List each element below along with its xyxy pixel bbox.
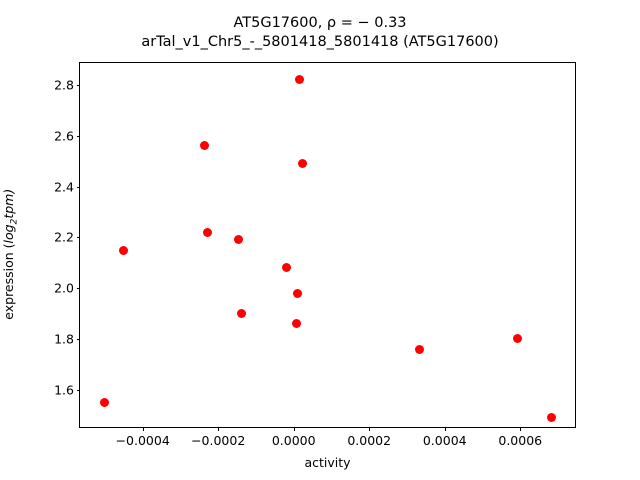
y-axis-label-prefix: expression ( <box>1 243 16 319</box>
y-axis-label-sub: 2 <box>9 219 19 225</box>
data-point <box>292 319 301 328</box>
x-axis-tick <box>294 427 295 431</box>
plot-axes: −0.0004−0.00020.00000.00020.00040.00061.… <box>79 62 576 428</box>
y-axis-tick <box>77 237 81 238</box>
chart-title-line1: AT5G17600, ρ = − 0.33 <box>0 14 640 33</box>
y-axis-tick-label: 2.6 <box>54 128 74 143</box>
y-axis-tick <box>77 288 81 289</box>
y-axis-tick-label: 2.0 <box>54 281 74 296</box>
x-axis-tick <box>445 427 446 431</box>
data-point <box>119 246 128 255</box>
chart-title: AT5G17600, ρ = − 0.33 arTal_v1_Chr5_-_58… <box>0 14 640 52</box>
x-axis-tick <box>369 427 370 431</box>
y-axis-tick-label: 2.8 <box>54 77 74 92</box>
x-axis-tick <box>218 427 219 431</box>
y-axis-tick-label: 1.6 <box>54 382 74 397</box>
y-axis-label-suffix: tpm) <box>1 189 16 219</box>
x-axis-tick-label: 0.0000 <box>272 433 316 448</box>
x-axis-tick-label: −0.0004 <box>116 433 170 448</box>
y-axis-label-base: log <box>1 224 16 243</box>
y-axis-tick-label: 2.2 <box>54 230 74 245</box>
x-axis-label: activity <box>79 455 576 470</box>
y-axis-tick-label: 2.4 <box>54 179 74 194</box>
y-axis-label: expression (log2tpm) <box>1 154 20 354</box>
data-point <box>295 75 304 84</box>
data-point <box>200 141 209 150</box>
data-point <box>547 413 556 422</box>
chart-title-line2: arTal_v1_Chr5_-_5801418_5801418 (AT5G176… <box>0 33 640 52</box>
x-axis-tick-label: 0.0004 <box>423 433 467 448</box>
x-axis-tick-label: 0.0006 <box>498 433 542 448</box>
data-point <box>234 235 243 244</box>
data-point <box>298 159 307 168</box>
y-axis-tick <box>77 339 81 340</box>
data-point <box>513 334 522 343</box>
data-point <box>237 309 246 318</box>
scatter-plot-figure: AT5G17600, ρ = − 0.33 arTal_v1_Chr5_-_58… <box>0 0 640 480</box>
y-axis-tick-label: 1.8 <box>54 331 74 346</box>
data-plot-area <box>80 63 575 427</box>
x-axis-tick-label: −0.0002 <box>191 433 245 448</box>
y-axis-tick <box>77 85 81 86</box>
data-point <box>293 289 302 298</box>
y-axis-tick <box>77 187 81 188</box>
data-point <box>203 228 212 237</box>
y-axis-tick <box>77 136 81 137</box>
data-point <box>415 345 424 354</box>
x-axis-tick <box>143 427 144 431</box>
data-point <box>100 398 109 407</box>
data-point <box>282 263 291 272</box>
y-axis-tick <box>77 390 81 391</box>
x-axis-tick <box>520 427 521 431</box>
x-axis-tick-label: 0.0002 <box>347 433 391 448</box>
